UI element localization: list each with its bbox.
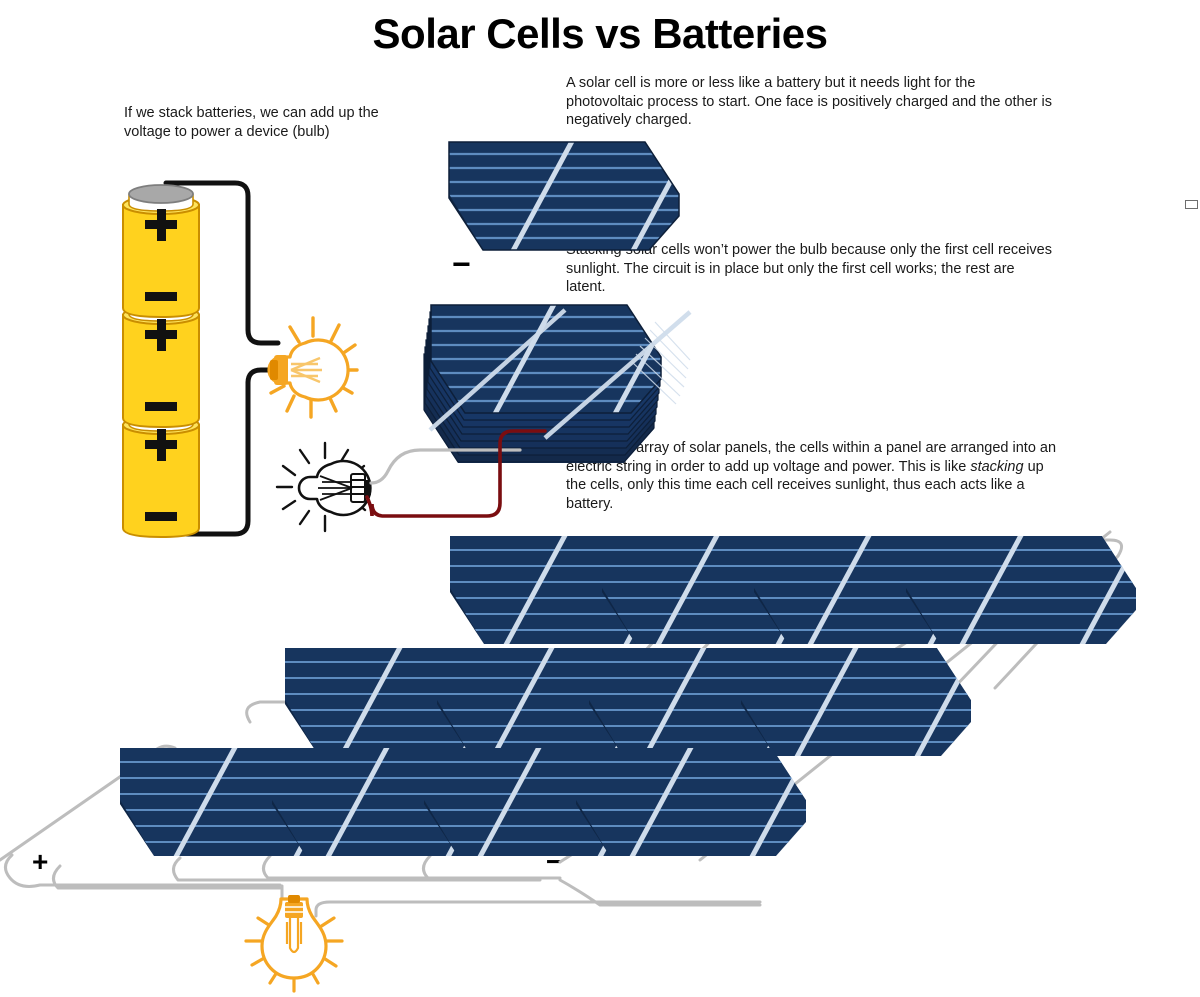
- array-bulb-lit-icon: [246, 895, 342, 991]
- battery-cell-1: [123, 185, 199, 317]
- stacked-solar-cells: [277, 295, 691, 531]
- single-solar-cell: [429, 132, 709, 264]
- stacked-cells-bulb-unlit-icon: [277, 443, 371, 531]
- infographic-illustration: [0, 0, 1200, 997]
- solar-array-group: [0, 526, 1166, 991]
- battery-bulb-lit-icon: [269, 318, 357, 417]
- array-cells: [100, 526, 1166, 870]
